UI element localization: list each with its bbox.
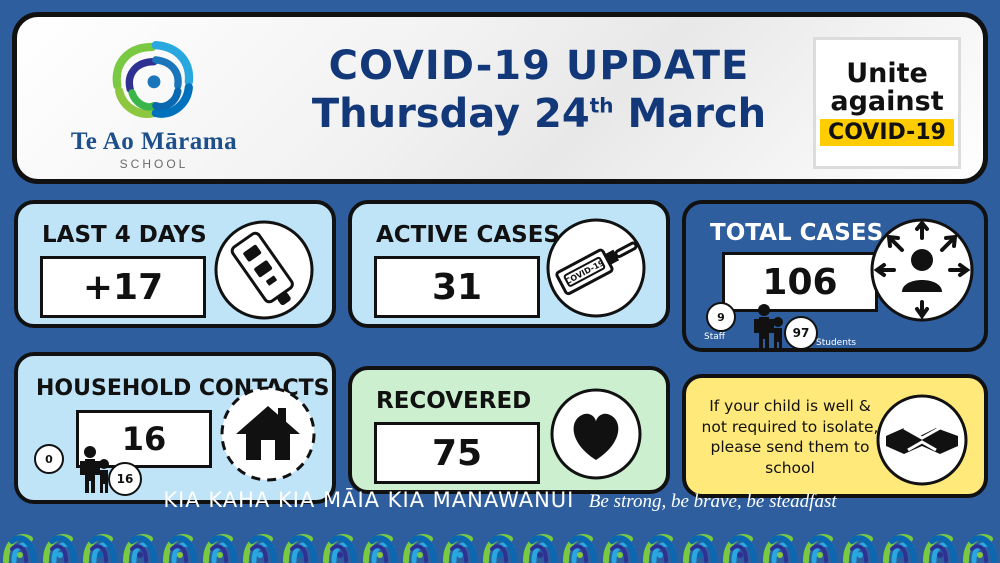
card-last-4-days: LAST 4 DAYS +17 [14,200,336,328]
card-notice-text: If your child is well & not required to … [700,396,880,478]
heart-icon [548,386,644,487]
date-suffix: th [590,94,614,118]
date-month: March [627,91,766,137]
card-notice: If your child is well & not required to … [682,374,988,498]
card-total-cases-label: TOTAL CASES [710,220,883,246]
page-title: COVID-19 UPDATE [279,43,799,89]
card-last-4-days-value: +17 [40,256,206,318]
header-bar: Te Ao Mārama SCHOOL COVID-19 UPDATE Thur… [12,12,988,184]
school-subtitle: SCHOOL [120,157,189,171]
card-total-cases: TOTAL CASES 106 [682,200,988,352]
total-cases-breakdown: 9 Staff 97 Students [714,300,824,357]
school-logo: Te Ao Mārama SCHOOL [39,27,269,177]
unite-against-covid-logo: Unite against COVID-19 [813,37,961,169]
card-active-cases-label: ACTIVE CASES [376,222,560,248]
card-recovered-label: RECOVERED [376,388,531,414]
koru-spiral-logo-icon [99,34,209,126]
rapid-antigen-test-icon [212,218,316,327]
footer-maori: KIA KAHA KIA MĀIA KIA MANAWANUI [163,488,574,512]
card-active-cases-value: 31 [374,256,540,318]
card-last-4-days-label: LAST 4 DAYS [42,222,207,248]
total-cases-students-caption: Students [816,338,856,348]
house-icon [218,384,318,489]
date-day: Thursday 24 [312,91,590,137]
koru-pattern-strip [0,515,1000,563]
total-cases-staff-count: 9 [706,302,736,332]
footer-motto: KIA KAHA KIA MĀIA KIA MANAWANUI Be stron… [0,488,1000,513]
header-titles: COVID-19 UPDATE Thursday 24th March [279,43,799,137]
person-spread-arrows-icon [868,216,976,329]
total-cases-students-count: 97 [784,316,818,350]
unite-line3: COVID-19 [820,119,954,146]
handshake-circle-icon [874,392,970,493]
card-household-contacts: HOUSEHOLD CONTACTS 16 [14,352,336,504]
footer-english: Be strong, be brave, be steadfast [589,491,837,512]
total-cases-staff-caption: Staff [704,332,725,342]
card-recovered: RECOVERED 75 [348,366,670,494]
household-contacts-staff-count: 0 [34,444,64,474]
poster-root: Te Ao Mārama SCHOOL COVID-19 UPDATE Thur… [0,0,1000,563]
page-date: Thursday 24th March [279,91,799,137]
unite-line1: Unite [846,60,928,88]
card-active-cases: ACTIVE CASES 31 COVID-19 [348,200,670,328]
card-recovered-value: 75 [374,422,540,484]
covid-swab-test-icon: COVID-19 [536,216,656,325]
unite-line2: against [830,88,943,116]
school-name: Te Ao Mārama [71,128,237,156]
